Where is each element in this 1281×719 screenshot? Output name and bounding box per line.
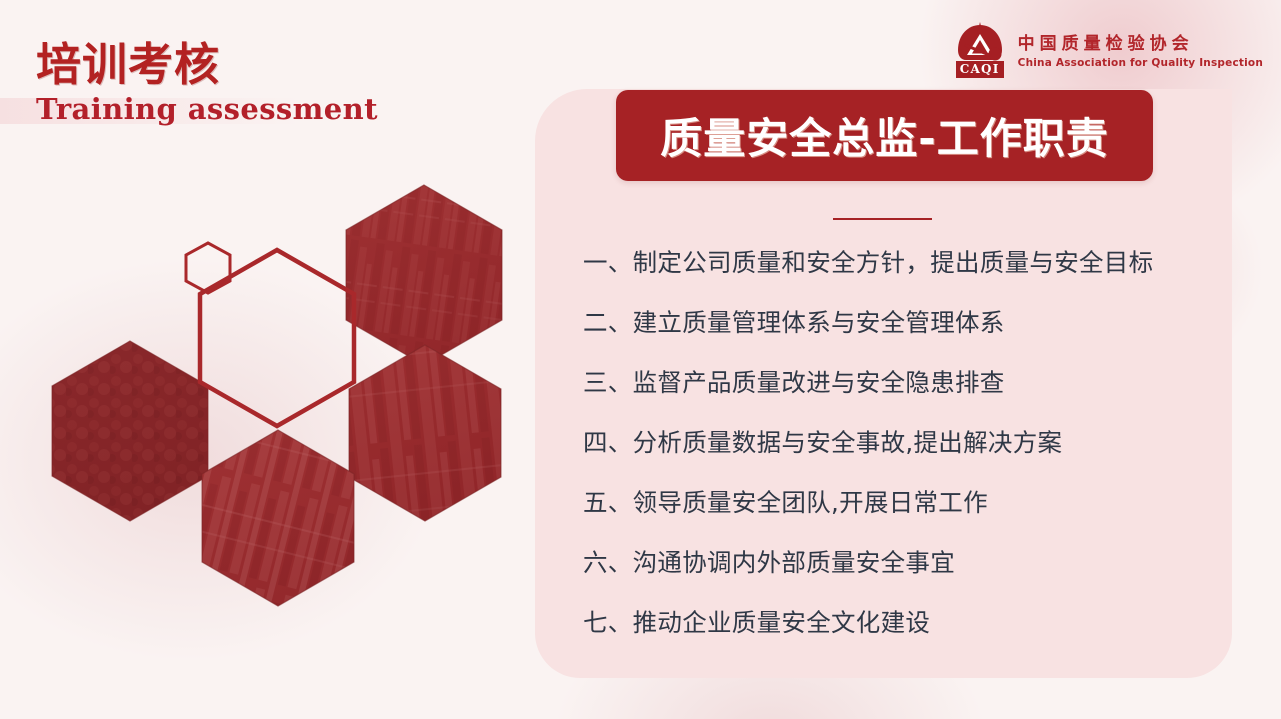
hexagon-outline-small (186, 243, 230, 293)
list-item: 五、 领导质量安全团队,开展日常工作 (583, 484, 1213, 544)
slide-canvas: 培训考核 Training assessment CAQI 中国质量检验协会 C… (0, 0, 1281, 719)
hexagon-photo-city-skyline (340, 180, 510, 375)
background-wash-bottom-left (0, 180, 540, 719)
list-item: 一、 制定公司质量和安全方针，提出质量与安全目标 (583, 244, 1213, 304)
hexagon-photo-towers (345, 340, 510, 530)
list-item-text: 分析质量数据与安全事故,提出解决方案 (633, 424, 1063, 459)
caqi-emblem-icon: CAQI (952, 20, 1008, 78)
list-item-text: 监督产品质量改进与安全隐患排查 (633, 364, 1005, 399)
caqi-logo: CAQI 中国质量检验协会 China Association for Qual… (952, 20, 1263, 78)
caqi-acronym: CAQI (956, 61, 1004, 78)
list-item-number: 七、 (583, 604, 633, 639)
list-item-text: 推动企业质量安全文化建设 (633, 604, 931, 639)
heading-english: Training assessment (36, 95, 378, 124)
logo-name-english: China Association for Quality Inspection (1018, 57, 1263, 69)
title-divider (833, 218, 932, 220)
list-item: 三、 监督产品质量改进与安全隐患排查 (583, 364, 1213, 424)
list-item: 六、 沟通协调内外部质量安全事宜 (583, 544, 1213, 604)
list-item-number: 四、 (583, 424, 633, 459)
responsibility-list: 一、 制定公司质量和安全方针，提出质量与安全目标 二、 建立质量管理体系与安全管… (583, 244, 1213, 664)
list-item-number: 一、 (583, 244, 633, 279)
hexagon-photo-park (48, 336, 216, 528)
list-item: 七、 推动企业质量安全文化建设 (583, 604, 1213, 664)
logo-name-chinese: 中国质量检验协会 (1018, 29, 1263, 54)
heading-chinese: 培训考核 (36, 42, 378, 87)
list-item-text: 领导质量安全团队,开展日常工作 (633, 484, 988, 519)
list-item-number: 六、 (583, 544, 633, 579)
logo-wordmark: 中国质量检验协会 China Association for Quality I… (1018, 29, 1263, 69)
list-item-text: 沟通协调内外部质量安全事宜 (633, 544, 955, 579)
card-title-text: 质量安全总监-工作职责 (660, 105, 1108, 166)
card-title-banner: 质量安全总监-工作职责 (616, 90, 1153, 181)
list-item-number: 二、 (583, 304, 633, 339)
list-item-number: 五、 (583, 484, 633, 519)
list-item-text: 建立质量管理体系与安全管理体系 (633, 304, 1005, 339)
list-item-number: 三、 (583, 364, 633, 399)
list-item-text: 制定公司质量和安全方针，提出质量与安全目标 (633, 244, 1154, 279)
slide-heading: 培训考核 Training assessment (36, 42, 378, 124)
list-item: 四、 分析质量数据与安全事故,提出解决方案 (583, 424, 1213, 484)
list-item: 二、 建立质量管理体系与安全管理体系 (583, 304, 1213, 364)
hexagon-photo-construction (198, 425, 360, 611)
hexagon-outline-large (200, 250, 354, 426)
